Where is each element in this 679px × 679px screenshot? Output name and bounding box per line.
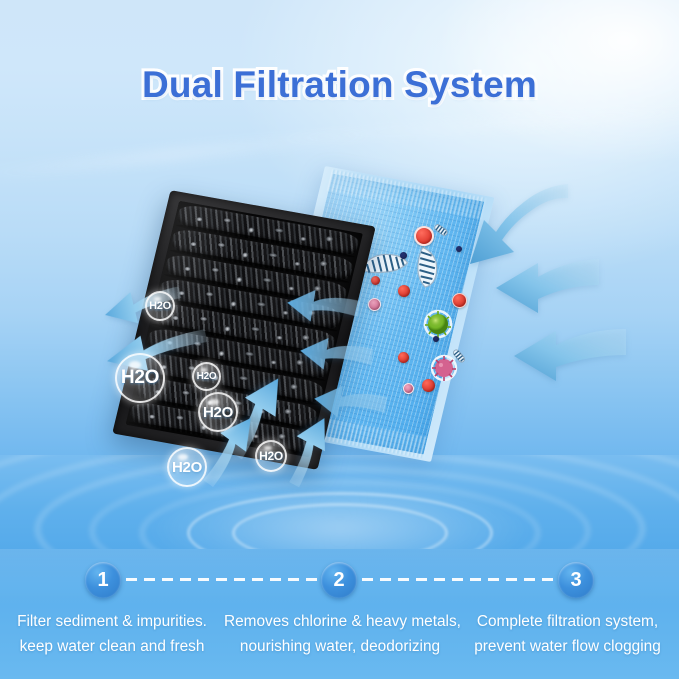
steps-section: 1 2 3 Filter sediment & impurities. keep… — [0, 549, 679, 679]
microbe-icon — [447, 344, 471, 368]
step-description-2: Removes chlorine & heavy metals, nourish… — [224, 609, 456, 659]
particle-dot — [422, 379, 435, 392]
carbon-slat — [140, 351, 325, 406]
step-badge-1[interactable]: 1 — [85, 562, 121, 598]
arrow-left-curved-icon — [466, 255, 601, 319]
step-badge-3[interactable]: 3 — [558, 562, 594, 598]
page-title: Dual Filtration System — [0, 64, 679, 106]
particle-dot — [368, 298, 381, 311]
step-line: Removes chlorine & heavy metals, — [224, 609, 456, 634]
step-badge-2[interactable]: 2 — [321, 562, 357, 598]
step-line: keep water clean and fresh — [0, 634, 224, 659]
step-connector-1 — [126, 578, 322, 581]
step-line: prevent water flow clogging — [456, 634, 679, 659]
sponge-fiber-top — [327, 169, 486, 219]
step-line: Filter sediment & impurities. — [0, 609, 224, 634]
arrow-left-curved-icon — [305, 377, 390, 429]
arrow-left-curved-icon — [440, 182, 570, 274]
arrow-left-up-icon — [96, 317, 213, 385]
blue-sponge-filter — [262, 166, 495, 462]
sponge-edge — [262, 166, 495, 462]
particle-dot — [403, 383, 414, 394]
step-description-3: Complete filtration system, prevent wate… — [456, 609, 679, 659]
water-drop-h2o-icon: H2O — [145, 291, 175, 321]
microbe-icon — [352, 243, 416, 283]
carbon-slat — [164, 252, 349, 307]
step-line: nourishing water, deodorizing — [224, 634, 456, 659]
carbon-slat — [170, 228, 355, 283]
particle-dot — [371, 276, 380, 285]
particle-dot — [400, 252, 407, 259]
particle-dot — [452, 293, 467, 308]
particle-dot — [414, 226, 434, 246]
carbon-slat — [175, 203, 360, 258]
carbon-slat — [134, 376, 319, 431]
microbe-icon — [429, 218, 453, 242]
arrow-left-curved-icon — [478, 323, 628, 387]
carbon-slat — [152, 302, 337, 357]
particle-dot — [456, 246, 462, 252]
step-line: Complete filtration system, — [456, 609, 679, 634]
infographic-canvas: Dual Filtration System — [0, 0, 679, 679]
carbon-slat — [158, 277, 343, 332]
water-drop-h2o-icon: H2O — [192, 362, 221, 391]
water-drop-h2o-icon: H2O — [198, 392, 238, 432]
sky-light-sweep — [0, 128, 379, 182]
carbon-slat — [128, 400, 313, 455]
arrow-left-curved-icon — [278, 281, 363, 333]
microbe-icon — [428, 352, 460, 384]
carbon-filter-frame — [112, 190, 375, 470]
microbe-icon — [421, 307, 455, 341]
particle-dot — [398, 285, 410, 297]
carbon-slat-container — [126, 201, 363, 457]
carbon-filter-highlight — [126, 201, 249, 437]
carbon-slat — [146, 326, 331, 381]
microbe-icon — [403, 240, 449, 293]
sponge-face — [272, 174, 484, 455]
particle-dot — [398, 352, 409, 363]
particle-dot — [433, 336, 439, 342]
step-connector-2 — [362, 578, 558, 581]
activated-carbon-filter — [112, 190, 375, 470]
sky-light-sweep — [260, 103, 679, 144]
arrow-left-up-icon — [212, 362, 300, 467]
step-description-1: Filter sediment & impurities. keep water… — [0, 609, 224, 659]
water-drop-h2o-icon: H2O — [115, 353, 165, 403]
arrow-left-curved-icon — [291, 329, 376, 381]
sponge-fiber-bottom — [270, 409, 429, 459]
arrow-left-up-icon — [94, 276, 187, 336]
sponge-sheen — [272, 174, 400, 439]
